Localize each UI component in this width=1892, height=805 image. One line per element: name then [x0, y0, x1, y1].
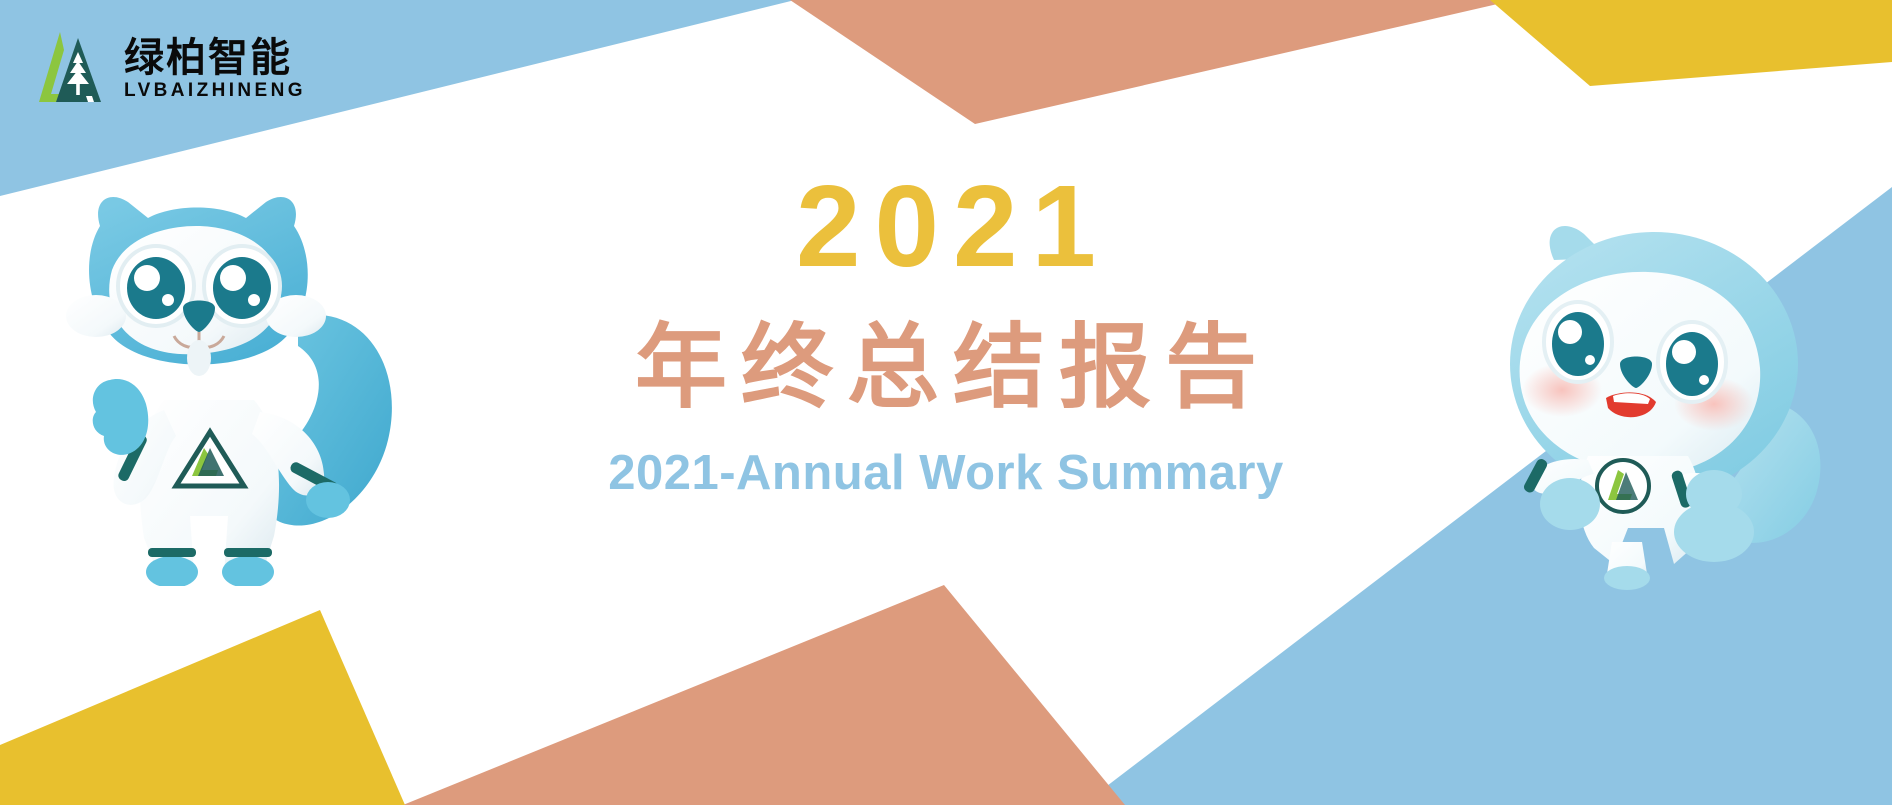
cover-slide: 绿柏智能 LVBAIZHINENG [0, 0, 1892, 805]
lvbai-pine-triangle-logo-icon [36, 28, 110, 108]
brand-name-en: LVBAIZHINENG [124, 81, 306, 100]
brand-logo[interactable]: 绿柏智能 LVBAIZHINENG [36, 28, 306, 108]
hero-year: 2021 [496, 168, 1396, 284]
brand-name-cn: 绿柏智能 [124, 37, 306, 79]
mascot-eye-right [1658, 322, 1726, 402]
hero-subtitle-en: 2021-Annual Work Summary [496, 449, 1396, 498]
mascot-mouth [187, 340, 211, 376]
brand-wordmark: 绿柏智能 LVBAIZHINENG [124, 37, 306, 100]
mascot-hand-left [1540, 478, 1600, 530]
mascot-eye-left [118, 246, 194, 326]
squirrel-mascot-waving [1478, 212, 1856, 594]
mascot-eye-right [204, 246, 280, 326]
mascot-thumbs-up-hand [93, 379, 149, 455]
squirrel-mascot-thumbs-up [52, 186, 404, 586]
mascot-eye-left [1544, 302, 1612, 382]
hero-title-cn: 年终总结报告 [496, 320, 1396, 417]
hero-title-block: 2021 年终总结报告 2021-Annual Work Summary [496, 168, 1396, 498]
mascot-chest-logo-icon [1597, 460, 1649, 512]
mascot-foot-left [1604, 566, 1650, 590]
mascot-leg-right [1674, 502, 1754, 562]
